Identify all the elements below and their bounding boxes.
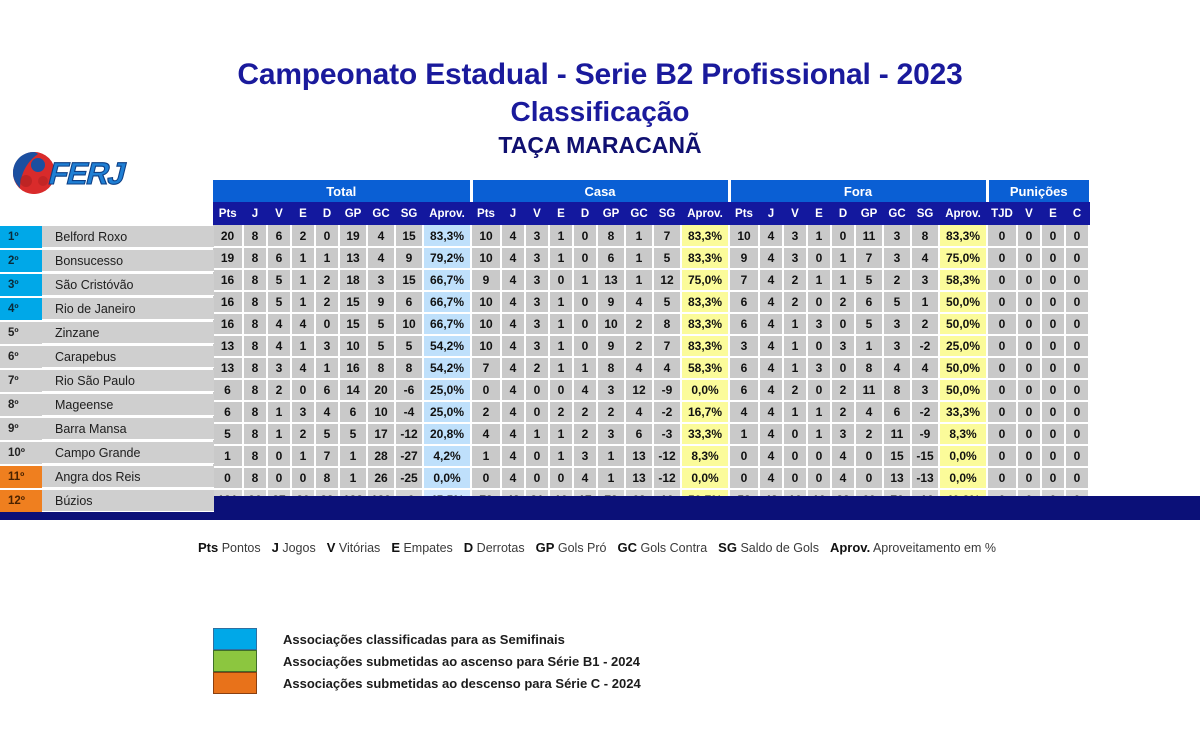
cell-punicoes-J: 0 (1017, 269, 1041, 291)
cell-total-V: 0 (267, 445, 291, 467)
cell-total-E: 3 (291, 401, 315, 423)
col-header-punicoes-tjd: TJD (987, 202, 1017, 225)
cell-casa-J: 4 (501, 357, 525, 379)
cell-total-SG: 8 (395, 357, 423, 379)
cell-punicoes-Pts: 0 (987, 401, 1017, 423)
cell-casa-SG: -12 (653, 467, 681, 489)
cell-casa-E: 1 (549, 335, 573, 357)
col-header-casa-aprov: Aprov. (681, 202, 729, 225)
cell-total-V: 2 (267, 379, 291, 401)
cell-casa-D: 0 (573, 247, 597, 269)
cell-total-E: 0 (291, 379, 315, 401)
col-header-fora-sg: SG (911, 202, 939, 225)
cell-fora-J: 4 (759, 247, 783, 269)
group-header-total: Total (213, 180, 471, 202)
col-header-fora-aprov: Aprov. (939, 202, 987, 225)
cell-total-E: 1 (291, 269, 315, 291)
legend-row: Associações classificadas para as Semifi… (213, 628, 641, 650)
cell-casa-SG: 7 (653, 335, 681, 357)
col-header-casa-sg: SG (653, 202, 681, 225)
team-name: Belford Roxo (42, 230, 214, 244)
cell-total-V: 1 (267, 401, 291, 423)
cell-fora-SG: 3 (911, 269, 939, 291)
group-header-fora: Fora (729, 180, 987, 202)
cell-fora-Aprov.: 58,3% (939, 269, 987, 291)
cell-total-Pts: 16 (213, 313, 243, 335)
cell-fora-V: 1 (783, 357, 807, 379)
cell-total-J: 8 (243, 291, 267, 313)
cell-casa-D: 2 (573, 401, 597, 423)
cell-fora-J: 4 (759, 269, 783, 291)
cell-fora-GC: 4 (883, 357, 911, 379)
cell-total-GP: 14 (339, 379, 367, 401)
team-row[interactable]: 11ºAngra dos Reis (0, 466, 214, 488)
cell-fora-GP: 0 (855, 467, 883, 489)
cell-casa-GC: 13 (625, 467, 653, 489)
cell-punicoes-E: 0 (1065, 379, 1089, 401)
cell-fora-GC: 11 (883, 423, 911, 445)
cell-punicoes-V: 0 (1041, 357, 1065, 379)
team-row[interactable]: 5ºZinzane (0, 322, 214, 344)
cell-punicoes-E: 0 (1065, 423, 1089, 445)
cell-fora-Pts: 10 (729, 225, 759, 247)
abbrev-code: GP (536, 540, 555, 555)
abbrev-code: Aprov. (830, 540, 870, 555)
cell-fora-GP: 8 (855, 357, 883, 379)
cell-casa-E: 1 (549, 445, 573, 467)
position-badge: 7º (0, 370, 42, 392)
cell-fora-D: 2 (831, 379, 855, 401)
cell-fora-J: 4 (759, 445, 783, 467)
cell-total-GC: 5 (367, 313, 395, 335)
col-header-fora-v: V (783, 202, 807, 225)
cell-fora-J: 4 (759, 423, 783, 445)
cell-total-Pts: 1 (213, 445, 243, 467)
cell-total-D: 8 (315, 467, 339, 489)
cell-total-Aprov.: 66,7% (423, 313, 471, 335)
col-header-total-j: J (243, 202, 267, 225)
cell-casa-GP: 3 (597, 379, 625, 401)
cell-casa-D: 0 (573, 313, 597, 335)
cell-casa-Aprov.: 58,3% (681, 357, 729, 379)
cell-fora-V: 1 (783, 401, 807, 423)
cell-total-SG: 9 (395, 247, 423, 269)
team-row[interactable]: 1ºBelford Roxo (0, 226, 214, 248)
cell-total-GC: 5 (367, 335, 395, 357)
cell-casa-J: 4 (501, 401, 525, 423)
cell-fora-Pts: 4 (729, 401, 759, 423)
cell-punicoes-E: 0 (1065, 335, 1089, 357)
cell-fora-E: 3 (807, 313, 831, 335)
abbrev-code: GC (618, 540, 638, 555)
cell-fora-V: 2 (783, 379, 807, 401)
cell-casa-E: 1 (549, 423, 573, 445)
cell-total-Pts: 13 (213, 357, 243, 379)
cell-casa-GP: 6 (597, 247, 625, 269)
table-row: 08008126-250,0%04004113-120,0%04004013-1… (213, 467, 1089, 489)
cell-fora-V: 1 (783, 335, 807, 357)
cell-total-SG: 15 (395, 225, 423, 247)
abbrev-desc: Vitórias (335, 541, 380, 555)
cell-punicoes-V: 0 (1041, 445, 1065, 467)
cell-total-GP: 18 (339, 269, 367, 291)
cell-fora-Pts: 7 (729, 269, 759, 291)
table-row: 138413105554,2%10431092783,3%3410313-225… (213, 335, 1089, 357)
cell-casa-GC: 2 (625, 313, 653, 335)
cell-casa-J: 4 (501, 379, 525, 401)
team-row[interactable]: 7ºRio São Paulo (0, 370, 214, 392)
cell-fora-GC: 3 (883, 225, 911, 247)
cell-fora-E: 0 (807, 445, 831, 467)
abbrev-desc: Empates (400, 541, 453, 555)
cell-total-D: 0 (315, 313, 339, 335)
cell-casa-D: 0 (573, 291, 597, 313)
cell-total-GC: 26 (367, 467, 395, 489)
column-header-row: PtsJVEDGPGCSGAprov.PtsJVEDGPGCSGAprov.Pt… (213, 202, 1089, 225)
cell-total-D: 4 (315, 401, 339, 423)
cell-total-E: 1 (291, 335, 315, 357)
team-row[interactable]: 3ºSão Cristóvão (0, 274, 214, 296)
cell-fora-Pts: 6 (729, 357, 759, 379)
cell-punicoes-Pts: 0 (987, 247, 1017, 269)
svg-text:FERJ: FERJ (45, 156, 129, 190)
cell-total-Pts: 5 (213, 423, 243, 445)
cell-fora-E: 0 (807, 247, 831, 269)
cell-total-V: 4 (267, 313, 291, 335)
cell-fora-J: 4 (759, 225, 783, 247)
cell-casa-GP: 8 (597, 357, 625, 379)
col-header-casa-d: D (573, 202, 597, 225)
cell-fora-Pts: 6 (729, 313, 759, 335)
abbrev-desc: Gols Contra (637, 541, 707, 555)
cell-fora-Pts: 1 (729, 423, 759, 445)
cell-total-J: 8 (243, 379, 267, 401)
cell-casa-Pts: 4 (471, 423, 501, 445)
col-header-fora-pts: Pts (729, 202, 759, 225)
col-header-fora-gp: GP (855, 202, 883, 225)
team-row[interactable]: 2ºBonsucesso (0, 250, 214, 272)
cell-casa-D: 1 (573, 269, 597, 291)
cell-fora-Pts: 3 (729, 335, 759, 357)
team-row[interactable]: 8ºMageense (0, 394, 214, 416)
cell-punicoes-Pts: 0 (987, 467, 1017, 489)
cell-fora-D: 0 (831, 313, 855, 335)
col-header-punicoes-v: V (1017, 202, 1041, 225)
team-row[interactable]: 12ºBúzios (0, 490, 214, 512)
cell-punicoes-E: 0 (1065, 445, 1089, 467)
cell-punicoes-E: 0 (1065, 291, 1089, 313)
cell-total-Aprov.: 25,0% (423, 401, 471, 423)
table-row: 1684401551066,7%104310102883,3%641305325… (213, 313, 1089, 335)
table-row: 682061420-625,0%04004312-90,0%6420211835… (213, 379, 1089, 401)
cell-total-J: 8 (243, 225, 267, 247)
position-badge: 12º (0, 490, 42, 512)
cell-punicoes-E: 0 (1065, 467, 1089, 489)
cell-total-GC: 4 (367, 225, 395, 247)
cell-total-GP: 15 (339, 313, 367, 335)
cell-total-J: 8 (243, 313, 267, 335)
abbrev-desc: Derrotas (473, 541, 524, 555)
cell-total-Aprov.: 54,2% (423, 335, 471, 357)
legend-row: Associações submetidas ao descenso para … (213, 672, 641, 694)
position-badge: 9º (0, 418, 42, 440)
cell-casa-Pts: 0 (471, 467, 501, 489)
cell-fora-D: 0 (831, 225, 855, 247)
cell-total-D: 1 (315, 247, 339, 269)
cell-casa-Pts: 0 (471, 379, 501, 401)
cell-casa-E: 1 (549, 247, 573, 269)
col-header-total-aprov: Aprov. (423, 202, 471, 225)
cell-fora-D: 0 (831, 357, 855, 379)
legend-swatch-semi (213, 628, 257, 650)
table-row: 18017128-274,2%14013113-128,3%04004015-1… (213, 445, 1089, 467)
cell-total-J: 8 (243, 467, 267, 489)
cell-fora-GP: 6 (855, 291, 883, 313)
cell-casa-GC: 12 (625, 379, 653, 401)
cell-fora-GP: 4 (855, 401, 883, 423)
team-name: Mageense (42, 398, 214, 412)
team-row[interactable]: 10ºCampo Grande (0, 442, 214, 464)
col-header-casa-pts: Pts (471, 202, 501, 225)
cell-fora-GP: 0 (855, 445, 883, 467)
cell-fora-E: 0 (807, 379, 831, 401)
cell-total-GP: 6 (339, 401, 367, 423)
cell-casa-D: 0 (573, 335, 597, 357)
cell-fora-SG: -2 (911, 335, 939, 357)
cell-total-Aprov.: 66,7% (423, 291, 471, 313)
cell-casa-Aprov.: 75,0% (681, 269, 729, 291)
cell-fora-GP: 5 (855, 313, 883, 335)
cell-punicoes-J: 0 (1017, 291, 1041, 313)
cell-casa-V: 3 (525, 269, 549, 291)
cell-total-Aprov.: 25,0% (423, 379, 471, 401)
table-row: 198611134979,2%10431061583,3%9430173475,… (213, 247, 1089, 269)
cell-punicoes-Pts: 0 (987, 445, 1017, 467)
cell-total-GP: 13 (339, 247, 367, 269)
cell-total-D: 1 (315, 357, 339, 379)
cell-casa-Aprov.: 33,3% (681, 423, 729, 445)
col-header-total-pts: Pts (213, 202, 243, 225)
cell-fora-D: 4 (831, 467, 855, 489)
standings-table: TotalCasaForaPunições PtsJVEDGPGCSGAprov… (213, 180, 1090, 512)
cell-casa-Pts: 9 (471, 269, 501, 291)
cell-casa-J: 4 (501, 467, 525, 489)
cell-total-GP: 1 (339, 467, 367, 489)
cell-casa-Pts: 2 (471, 401, 501, 423)
cell-total-V: 6 (267, 225, 291, 247)
cell-total-Pts: 16 (213, 269, 243, 291)
cell-casa-GP: 9 (597, 291, 625, 313)
cell-casa-J: 4 (501, 291, 525, 313)
cell-casa-SG: -3 (653, 423, 681, 445)
cell-punicoes-V: 0 (1041, 401, 1065, 423)
cell-total-E: 2 (291, 225, 315, 247)
cell-casa-D: 0 (573, 225, 597, 247)
cell-casa-V: 3 (525, 291, 549, 313)
cell-casa-GC: 4 (625, 357, 653, 379)
cup-name: TAÇA MARACANÃ (0, 131, 1200, 161)
cell-total-V: 5 (267, 269, 291, 291)
cell-punicoes-J: 0 (1017, 313, 1041, 335)
cell-total-GC: 10 (367, 401, 395, 423)
cell-fora-J: 4 (759, 291, 783, 313)
cell-total-SG: 10 (395, 313, 423, 335)
cell-punicoes-J: 0 (1017, 379, 1041, 401)
cell-casa-GP: 3 (597, 423, 625, 445)
cell-fora-E: 1 (807, 401, 831, 423)
ferj-logo: FERJ FERJ (8, 148, 173, 198)
team-name: Búzios (42, 494, 214, 508)
cell-fora-D: 3 (831, 335, 855, 357)
cell-casa-V: 0 (525, 401, 549, 423)
cell-total-Pts: 13 (213, 335, 243, 357)
cell-total-GC: 28 (367, 445, 395, 467)
cell-fora-Aprov.: 50,0% (939, 313, 987, 335)
cell-punicoes-Pts: 0 (987, 291, 1017, 313)
cell-total-Aprov.: 83,3% (423, 225, 471, 247)
cell-casa-J: 4 (501, 269, 525, 291)
cell-fora-E: 3 (807, 357, 831, 379)
table-row: 58125517-1220,8%4411236-333,3%14013211-9… (213, 423, 1089, 445)
team-name-column: 1ºBelford Roxo2ºBonsucesso3ºSão Cristóvã… (0, 226, 214, 496)
cell-casa-SG: -12 (653, 445, 681, 467)
cell-total-Pts: 16 (213, 291, 243, 313)
col-header-fora-e: E (807, 202, 831, 225)
cell-fora-E: 0 (807, 467, 831, 489)
cell-total-J: 8 (243, 423, 267, 445)
cell-total-Pts: 0 (213, 467, 243, 489)
cell-fora-Aprov.: 83,3% (939, 225, 987, 247)
cell-punicoes-Pts: 0 (987, 335, 1017, 357)
team-row[interactable]: 6ºCarapebus (0, 346, 214, 368)
cell-fora-V: 1 (783, 313, 807, 335)
col-header-total-e: E (291, 202, 315, 225)
cell-total-J: 8 (243, 401, 267, 423)
position-badge: 11º (0, 466, 42, 488)
cell-casa-GP: 13 (597, 269, 625, 291)
cell-casa-GC: 13 (625, 445, 653, 467)
cell-casa-GC: 6 (625, 423, 653, 445)
cell-casa-V: 3 (525, 313, 549, 335)
abbrev-code: J (272, 540, 279, 555)
cell-fora-GC: 5 (883, 291, 911, 313)
cell-casa-D: 1 (573, 357, 597, 379)
cell-total-SG: 15 (395, 269, 423, 291)
cell-total-D: 7 (315, 445, 339, 467)
cell-total-GC: 4 (367, 247, 395, 269)
cell-casa-SG: -9 (653, 379, 681, 401)
cell-punicoes-J: 0 (1017, 335, 1041, 357)
team-name: Barra Mansa (42, 422, 214, 436)
cell-fora-Pts: 6 (729, 291, 759, 313)
cell-fora-SG: 8 (911, 225, 939, 247)
abbrev-desc: Saldo de Gols (737, 541, 819, 555)
cell-total-E: 4 (291, 313, 315, 335)
cell-total-E: 0 (291, 467, 315, 489)
cell-punicoes-V: 0 (1041, 291, 1065, 313)
cell-total-Aprov.: 20,8% (423, 423, 471, 445)
cell-casa-V: 0 (525, 445, 549, 467)
cell-fora-SG: 3 (911, 379, 939, 401)
cell-casa-GP: 2 (597, 401, 625, 423)
col-header-total-d: D (315, 202, 339, 225)
cell-casa-V: 1 (525, 423, 549, 445)
team-name: Bonsucesso (42, 254, 214, 268)
cell-casa-GP: 9 (597, 335, 625, 357)
cell-total-SG: -25 (395, 467, 423, 489)
cell-casa-SG: -2 (653, 401, 681, 423)
cell-casa-Pts: 10 (471, 313, 501, 335)
team-row[interactable]: 4ºRio de Janeiro (0, 298, 214, 320)
table-body: 2086201941583,3%10431081783,3%1043101138… (213, 225, 1089, 489)
cell-fora-Aprov.: 50,0% (939, 357, 987, 379)
cell-punicoes-Pts: 0 (987, 225, 1017, 247)
cell-punicoes-E: 0 (1065, 357, 1089, 379)
cell-casa-V: 0 (525, 379, 549, 401)
cell-fora-D: 2 (831, 401, 855, 423)
cell-total-V: 5 (267, 291, 291, 313)
cell-fora-GP: 11 (855, 225, 883, 247)
cell-fora-J: 4 (759, 467, 783, 489)
cell-total-Aprov.: 66,7% (423, 269, 471, 291)
cell-total-J: 8 (243, 335, 267, 357)
col-header-fora-gc: GC (883, 202, 911, 225)
cell-fora-GC: 3 (883, 247, 911, 269)
cell-punicoes-V: 0 (1041, 467, 1065, 489)
cell-total-GP: 5 (339, 423, 367, 445)
col-header-fora-j: J (759, 202, 783, 225)
col-header-punicoes-e: E (1041, 202, 1065, 225)
cell-punicoes-V: 0 (1041, 379, 1065, 401)
cell-fora-V: 0 (783, 467, 807, 489)
legend-swatch-desc (213, 672, 257, 694)
abbrev-desc: Pontos (218, 541, 260, 555)
cell-total-Pts: 6 (213, 379, 243, 401)
table-row: 2086201941583,3%10431081783,3%1043101138… (213, 225, 1089, 247)
cell-total-V: 6 (267, 247, 291, 269)
cell-punicoes-J: 0 (1017, 423, 1041, 445)
cell-fora-Pts: 6 (729, 379, 759, 401)
cell-total-J: 8 (243, 247, 267, 269)
cell-casa-Aprov.: 83,3% (681, 247, 729, 269)
cell-total-GP: 10 (339, 335, 367, 357)
cell-total-Pts: 19 (213, 247, 243, 269)
cell-punicoes-E: 0 (1065, 401, 1089, 423)
cell-casa-GP: 10 (597, 313, 625, 335)
cell-fora-V: 3 (783, 225, 807, 247)
table-row: 168512159666,7%10431094583,3%6420265150,… (213, 291, 1089, 313)
cell-total-SG: 5 (395, 335, 423, 357)
team-name: Rio de Janeiro (42, 302, 214, 316)
cell-casa-V: 0 (525, 467, 549, 489)
cell-fora-Aprov.: 0,0% (939, 467, 987, 489)
team-row[interactable]: 9ºBarra Mansa (0, 418, 214, 440)
cell-casa-D: 3 (573, 445, 597, 467)
cell-fora-E: 1 (807, 269, 831, 291)
cell-total-SG: -4 (395, 401, 423, 423)
cell-fora-SG: 2 (911, 313, 939, 335)
col-header-casa-gc: GC (625, 202, 653, 225)
cell-total-V: 4 (267, 335, 291, 357)
cell-fora-GP: 2 (855, 423, 883, 445)
col-header-casa-j: J (501, 202, 525, 225)
cell-punicoes-J: 0 (1017, 357, 1041, 379)
team-name: Zinzane (42, 326, 214, 340)
cell-fora-Pts: 0 (729, 467, 759, 489)
team-name: Rio São Paulo (42, 374, 214, 388)
position-badge: 2º (0, 250, 42, 272)
cell-casa-SG: 5 (653, 291, 681, 313)
